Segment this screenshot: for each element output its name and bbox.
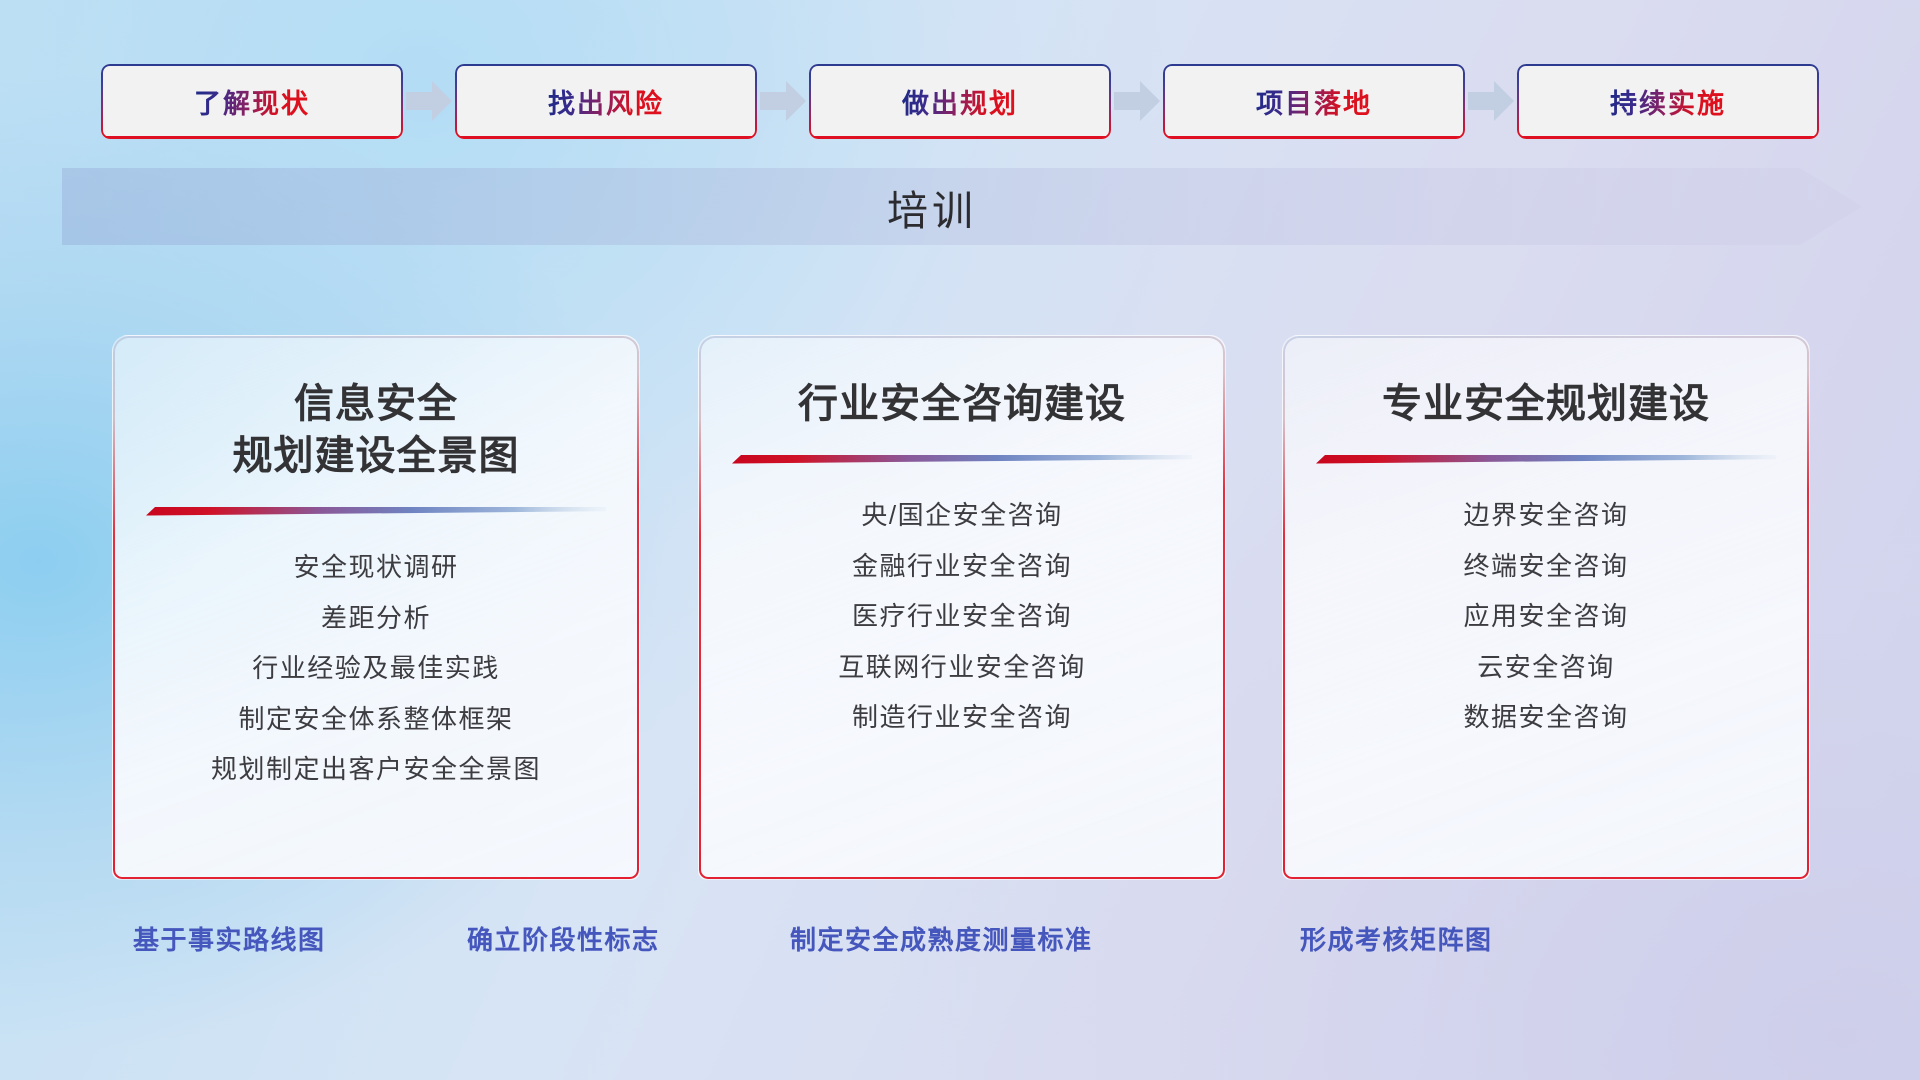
service-card-list-item[interactable]: 终端安全咨询: [1463, 550, 1628, 583]
service-card-list: 安全现状调研差距分析行业经验及最佳实践制定安全体系整体框架规划制定出客户安全全景…: [147, 551, 605, 786]
footer-label-0: 基于事实路线图: [133, 920, 326, 957]
right-arrow-icon: [760, 81, 806, 121]
right-arrow-icon: [1468, 81, 1514, 121]
process-step-label: 项目落地: [1256, 82, 1372, 121]
service-card-inner: 信息安全 规划建设全景图安全现状调研差距分析行业经验及最佳实践制定安全体系整体框…: [113, 336, 639, 879]
process-step-label: 做出规划: [902, 82, 1018, 121]
footer-label-3: 形成考核矩阵图: [1300, 920, 1493, 957]
service-card-list-item[interactable]: 互联网行业安全咨询: [838, 651, 1086, 684]
service-card-list-item[interactable]: 金融行业安全咨询: [852, 550, 1072, 583]
right-arrow-icon: [406, 81, 452, 121]
banner-title: 培训: [62, 168, 1802, 245]
service-card-divider: [732, 454, 1192, 465]
service-card-list-item[interactable]: 云安全咨询: [1477, 651, 1615, 684]
service-card-2[interactable]: 专业安全规划建设边界安全咨询终端安全咨询应用安全咨询云安全咨询数据安全咨询: [1282, 335, 1810, 880]
service-card-list-item[interactable]: 边界安全咨询: [1463, 499, 1628, 532]
service-card-list-item[interactable]: 规划制定出客户安全全景图: [211, 753, 541, 786]
service-card-title: 专业安全规划建设: [1382, 378, 1710, 430]
service-card-list-item[interactable]: 央/国企安全咨询: [861, 499, 1062, 532]
step-arrow-icon: [403, 62, 455, 140]
service-card-1[interactable]: 行业安全咨询建设央/国企安全咨询金融行业安全咨询医疗行业安全咨询互联网行业安全咨…: [698, 335, 1226, 880]
service-card-inner: 专业安全规划建设边界安全咨询终端安全咨询应用安全咨询云安全咨询数据安全咨询: [1283, 336, 1809, 879]
gradient-divider-icon: [146, 506, 606, 517]
process-step-row: 了解现状找出风险做出规划项目落地持续实施: [0, 62, 1920, 140]
service-card-list-item[interactable]: 数据安全咨询: [1463, 701, 1628, 734]
service-card-row: 信息安全 规划建设全景图安全现状调研差距分析行业经验及最佳实践制定安全体系整体框…: [0, 335, 1920, 880]
footer-label-row: 基于事实路线图确立阶段性标志制定安全成熟度测量标准形成考核矩阵图: [0, 920, 1920, 976]
process-step-1[interactable]: 找出风险: [455, 64, 757, 139]
process-step-4[interactable]: 持续实施: [1517, 64, 1819, 139]
service-card-list: 边界安全咨询终端安全咨询应用安全咨询云安全咨询数据安全咨询: [1317, 499, 1775, 734]
step-arrow-icon: [757, 62, 809, 140]
gradient-divider-icon: [1316, 454, 1776, 465]
process-step-0[interactable]: 了解现状: [101, 64, 403, 139]
footer-label-2: 制定安全成熟度测量标准: [790, 920, 1093, 957]
service-card-list-item[interactable]: 制定安全体系整体框架: [238, 703, 513, 736]
service-card-list-item[interactable]: 安全现状调研: [293, 551, 458, 584]
process-step-label: 了解现状: [194, 82, 310, 121]
service-card-0[interactable]: 信息安全 规划建设全景图安全现状调研差距分析行业经验及最佳实践制定安全体系整体框…: [112, 335, 640, 880]
service-card-divider: [146, 506, 606, 517]
service-card-title: 行业安全咨询建设: [798, 378, 1126, 430]
service-card-list-item[interactable]: 医疗行业安全咨询: [852, 600, 1072, 633]
service-card-list-item[interactable]: 制造行业安全咨询: [852, 701, 1072, 734]
service-card-list-item[interactable]: 差距分析: [321, 602, 431, 635]
process-step-3[interactable]: 项目落地: [1163, 64, 1465, 139]
service-card-divider: [1316, 454, 1776, 465]
service-card-title: 信息安全 规划建设全景图: [233, 378, 520, 482]
service-card-list-item[interactable]: 行业经验及最佳实践: [252, 652, 500, 685]
gradient-divider-icon: [732, 454, 1192, 465]
process-step-label: 持续实施: [1610, 82, 1726, 121]
service-card-list: 央/国企安全咨询金融行业安全咨询医疗行业安全咨询互联网行业安全咨询制造行业安全咨…: [733, 499, 1191, 734]
service-card-list-item[interactable]: 应用安全咨询: [1463, 600, 1628, 633]
step-arrow-icon: [1111, 62, 1163, 140]
service-card-inner: 行业安全咨询建设央/国企安全咨询金融行业安全咨询医疗行业安全咨询互联网行业安全咨…: [699, 336, 1225, 879]
footer-label-1: 确立阶段性标志: [467, 920, 660, 957]
training-banner: 培训: [62, 168, 1862, 245]
step-arrow-icon: [1465, 62, 1517, 140]
process-step-label: 找出风险: [548, 82, 664, 121]
right-arrow-icon: [1114, 81, 1160, 121]
process-step-2[interactable]: 做出规划: [809, 64, 1111, 139]
